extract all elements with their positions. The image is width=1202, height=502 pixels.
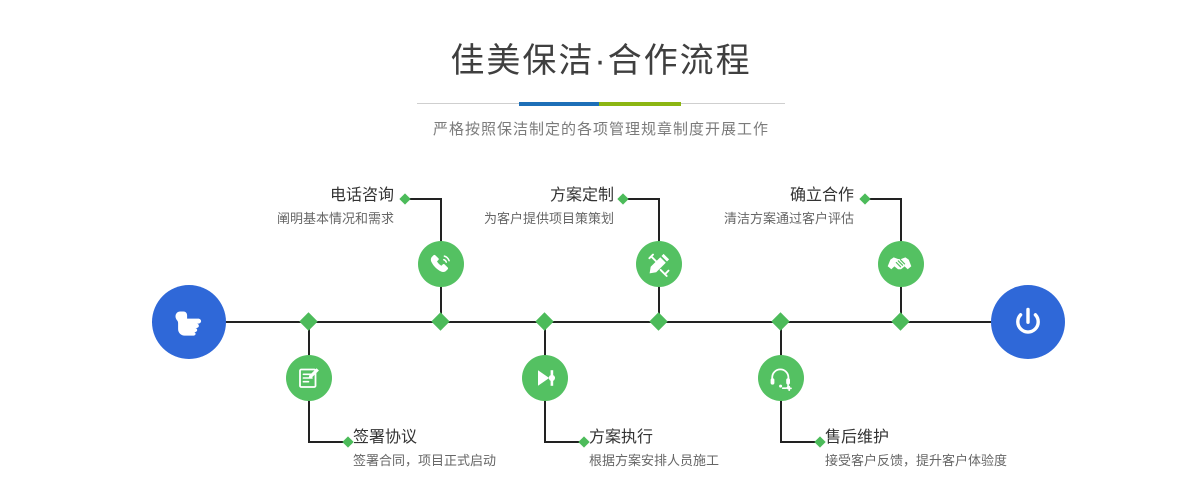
step-title-1: 电话咨询: [172, 186, 394, 206]
step-desc-3: 为客户提供项目策策划: [392, 209, 614, 229]
step-label-5: 确立合作 清洁方案通过客户评估: [632, 186, 854, 229]
connector-dot-2: [342, 436, 353, 447]
step-node-6[interactable]: [758, 355, 804, 401]
step-node-4[interactable]: [522, 355, 568, 401]
flow-diagram-canvas: 佳美保洁·合作流程 严格按照保洁制定的各项管理规章制度开展工作: [0, 0, 1202, 502]
play-skip-icon: [531, 364, 559, 392]
header: 佳美保洁·合作流程 严格按照保洁制定的各项管理规章制度开展工作: [0, 0, 1202, 139]
step-label-3: 方案定制 为客户提供项目策策划: [392, 186, 614, 229]
divider-segment-blue: [519, 102, 599, 106]
axis-marker-5: [891, 312, 909, 330]
step-label-2: 签署协议 签署合同，项目正式启动: [353, 428, 603, 471]
document-sign-icon: [295, 364, 323, 392]
step-title-2: 签署协议: [353, 428, 603, 448]
axis-marker-6: [771, 312, 789, 330]
step-title-4: 方案执行: [589, 428, 839, 448]
connector-dot-5: [859, 193, 870, 204]
power-icon: [1008, 302, 1048, 342]
axis-marker-4: [535, 312, 553, 330]
step-label-6: 售后维护 接受客户反馈，提升客户体验度: [825, 428, 1115, 471]
step-label-1: 电话咨询 阐明基本情况和需求: [172, 186, 394, 229]
step-node-5[interactable]: [878, 241, 924, 287]
step-label-4: 方案执行 根据方案安排人员施工: [589, 428, 839, 471]
step-desc-6: 接受客户反馈，提升客户体验度: [825, 451, 1115, 471]
page-title: 佳美保洁·合作流程: [0, 0, 1202, 78]
pencil-ruler-icon: [645, 250, 673, 278]
page-subtitle: 严格按照保洁制定的各项管理规章制度开展工作: [0, 118, 1202, 139]
divider-segment-green: [599, 102, 681, 106]
handshake-icon: [887, 250, 915, 278]
step-title-5: 确立合作: [632, 186, 854, 206]
axis-marker-3: [649, 312, 667, 330]
timeline-start-node[interactable]: [152, 285, 226, 359]
axis-marker-1: [431, 312, 449, 330]
connector-dot-3: [617, 193, 628, 204]
headset-support-icon: [767, 364, 795, 392]
step-node-3[interactable]: [636, 241, 682, 287]
step-desc-1: 阐明基本情况和需求: [172, 209, 394, 229]
step-title-6: 售后维护: [825, 428, 1115, 448]
step-desc-2: 签署合同，项目正式启动: [353, 451, 603, 471]
pointing-hand-icon: [169, 302, 209, 342]
phone-call-icon: [427, 250, 455, 278]
step-desc-4: 根据方案安排人员施工: [589, 451, 839, 471]
title-divider: [417, 102, 785, 106]
timeline-axis: [152, 321, 1052, 323]
timeline-end-node[interactable]: [991, 285, 1065, 359]
axis-marker-2: [299, 312, 317, 330]
step-title-3: 方案定制: [392, 186, 614, 206]
step-desc-5: 清洁方案通过客户评估: [632, 209, 854, 229]
step-node-1[interactable]: [418, 241, 464, 287]
step-node-2[interactable]: [286, 355, 332, 401]
